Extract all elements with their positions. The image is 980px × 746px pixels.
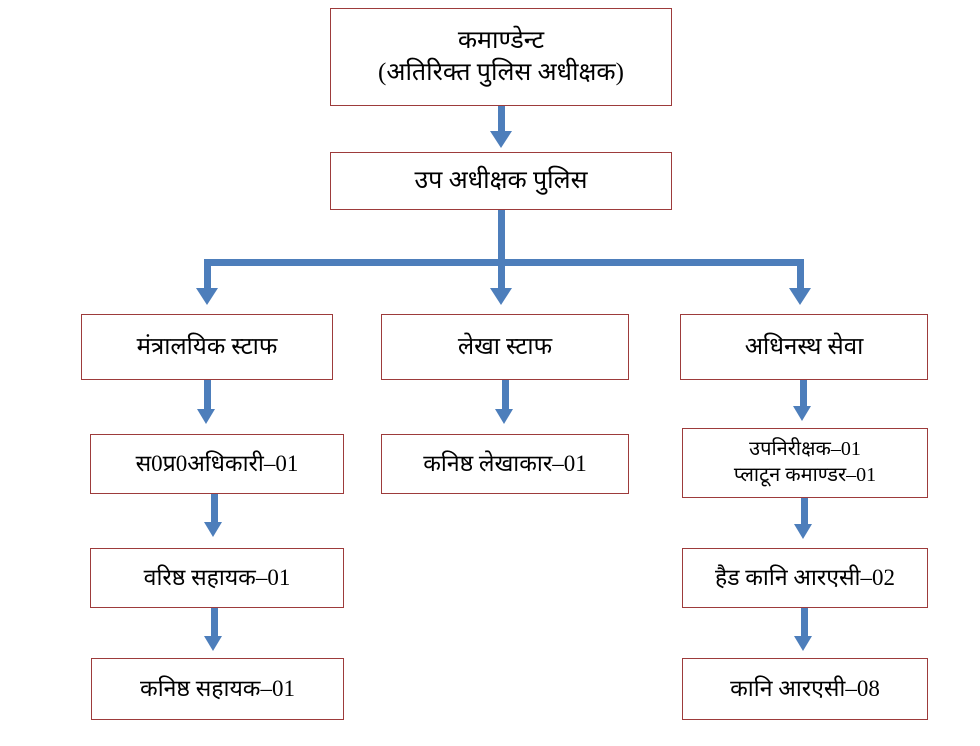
- node-constable-rac-line-1: कानि आरएसी–08: [730, 674, 880, 703]
- node-head-constable-rac-line-1: हैड कानि आरएसी–02: [715, 563, 895, 592]
- node-junior-assistant-line-1: कनिष्ठ सहायक–01: [140, 674, 295, 703]
- node-ministerial-staff-line-1: मंत्रालयिक स्टाफ: [137, 332, 278, 363]
- node-subordinate-service[interactable]: अधिनस्थ सेवा: [680, 314, 928, 380]
- node-subordinate-service-line-1: अधिनस्थ सेवा: [745, 332, 864, 363]
- node-commandant-line-2: (अतिरिक्त पुलिस अधीक्षक): [378, 57, 624, 89]
- arrow-head-icon: [197, 409, 215, 424]
- node-senior-assistant-line-1: वरिष्ठ सहायक–01: [144, 563, 291, 592]
- connector-line: [498, 106, 505, 134]
- arrow-head-icon: [490, 131, 512, 148]
- node-accounts-staff-line-1: लेखा स्टाफ: [458, 332, 552, 363]
- connector-line: [498, 210, 505, 266]
- node-sub-inspector-platoon-line-1: उपनिरीक्षक–01: [749, 437, 861, 463]
- node-commandant[interactable]: कमाण्डेन्ट (अतिरिक्त पुलिस अधीक्षक): [330, 8, 672, 106]
- arrow-head-icon: [793, 406, 811, 421]
- arrow-head-icon: [789, 288, 811, 305]
- node-ministerial-staff[interactable]: मंत्रालयिक स्टाफ: [81, 314, 333, 380]
- org-chart-canvas: कमाण्डेन्ट (अतिरिक्त पुलिस अधीक्षक) उप अ…: [0, 0, 980, 746]
- node-sub-inspector-platoon-line-2: प्लाटून कमाण्डर–01: [734, 463, 876, 489]
- node-head-constable-rac[interactable]: हैड कानि आरएसी–02: [682, 548, 928, 608]
- arrow-head-icon: [196, 288, 218, 305]
- node-senior-assistant[interactable]: वरिष्ठ सहायक–01: [90, 548, 344, 608]
- arrow-head-icon: [794, 524, 812, 539]
- node-asst-admin-officer-line-1: स0प्र0अधिकारी–01: [136, 449, 299, 478]
- node-sub-inspector-platoon[interactable]: उपनिरीक्षक–01 प्लाटून कमाण्डर–01: [682, 428, 928, 498]
- node-junior-assistant[interactable]: कनिष्ठ सहायक–01: [91, 658, 344, 720]
- node-dy-sp-line-1: उप अधीक्षक पुलिस: [414, 165, 587, 197]
- node-constable-rac[interactable]: कानि आरएसी–08: [682, 658, 928, 720]
- arrow-head-icon: [204, 522, 222, 537]
- node-dy-sp[interactable]: उप अधीक्षक पुलिस: [330, 152, 672, 210]
- arrow-head-icon: [204, 636, 222, 651]
- node-asst-admin-officer[interactable]: स0प्र0अधिकारी–01: [90, 434, 344, 494]
- arrow-head-icon: [794, 636, 812, 651]
- node-junior-accountant-line-1: कनिष्ठ लेखाकार–01: [423, 449, 587, 478]
- node-junior-accountant[interactable]: कनिष्ठ लेखाकार–01: [381, 434, 629, 494]
- arrow-head-icon: [490, 288, 512, 305]
- arrow-head-icon: [495, 409, 513, 424]
- node-commandant-line-1: कमाण्डेन्ट: [458, 25, 544, 57]
- node-accounts-staff[interactable]: लेखा स्टाफ: [381, 314, 629, 380]
